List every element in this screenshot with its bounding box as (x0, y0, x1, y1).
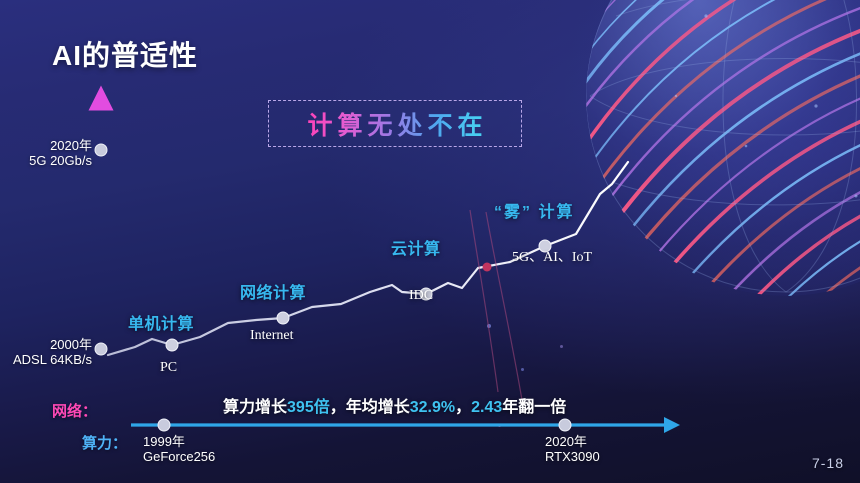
vaxis-tick-2000-value: ADSL 64KB/s (0, 352, 92, 367)
stat-value3: 2.43 (471, 399, 502, 416)
haxis-tick-1999-year: 1999年 (143, 434, 215, 449)
stat-value1: 395倍 (287, 399, 330, 416)
vaxis-name-label: 网络： (52, 400, 97, 421)
page-number: 7-18 (812, 455, 844, 471)
slide-canvas: AI的普适性 计算无处不在 2020年 5G 20Gb/s 2000年 ADSL… (0, 0, 860, 483)
decorative-streak-lines (470, 210, 522, 400)
decorative-speck (487, 324, 491, 328)
chart-node-accent (483, 263, 492, 272)
stage-label-network: 网络计算 (240, 279, 306, 303)
stat-part2: ，年均增长 (330, 399, 410, 416)
chart-node-internet (277, 312, 289, 324)
haxis-tick-2020: 2020年 RTX3090 (545, 434, 600, 464)
vaxis-tick-2020: 2020年 5G 20Gb/s (0, 138, 92, 168)
page-title: AI的普适性 (52, 34, 198, 74)
vaxis-tick-2000-year: 2000年 (0, 337, 92, 352)
haxis-tick-1999: 1999年 GeForce256 (143, 434, 215, 464)
stage-label-standalone: 单机计算 (128, 310, 194, 334)
banner-box: 计算无处不在 (268, 100, 522, 147)
banner-text: 计算无处不在 (302, 106, 487, 142)
stat-part1: 算力增长 (223, 399, 287, 416)
stage-label-cloud: 云计算 (391, 235, 441, 259)
haxis-tick-1999-value: GeForce256 (143, 449, 215, 464)
node-label-internet: Internet (250, 328, 294, 344)
node-label-pc: PC (160, 360, 177, 376)
haxis-tick-2020-year: 2020年 (545, 434, 600, 449)
stat-part4: 年翻一倍 (502, 399, 566, 416)
stage-label-fog: “雾” 计算 (494, 198, 574, 222)
node-label-5g: 5G、AI、IoT (512, 246, 592, 266)
vaxis-tick-2020-year: 2020年 (0, 138, 92, 153)
vaxis-tick-2020-value: 5G 20Gb/s (0, 153, 92, 168)
globe-graphic (586, 0, 860, 296)
decorative-speck (560, 345, 563, 348)
decorative-speck (521, 368, 524, 371)
stat-value2: 32.9% (410, 399, 455, 416)
chart-node-pc (166, 339, 178, 351)
statistic-line: 算力增长395倍，年均增长32.9%，2.43年翻一倍 (223, 393, 566, 417)
haxis-name-label: 算力： (82, 432, 127, 453)
decorative-speck (498, 424, 501, 427)
haxis-tick-2020-value: RTX3090 (545, 449, 600, 464)
globe-streaks (586, 0, 860, 296)
stat-part3: ， (455, 399, 471, 416)
vaxis-tick-2000: 2000年 ADSL 64KB/s (0, 337, 92, 367)
node-label-idc: IDC (409, 288, 433, 304)
